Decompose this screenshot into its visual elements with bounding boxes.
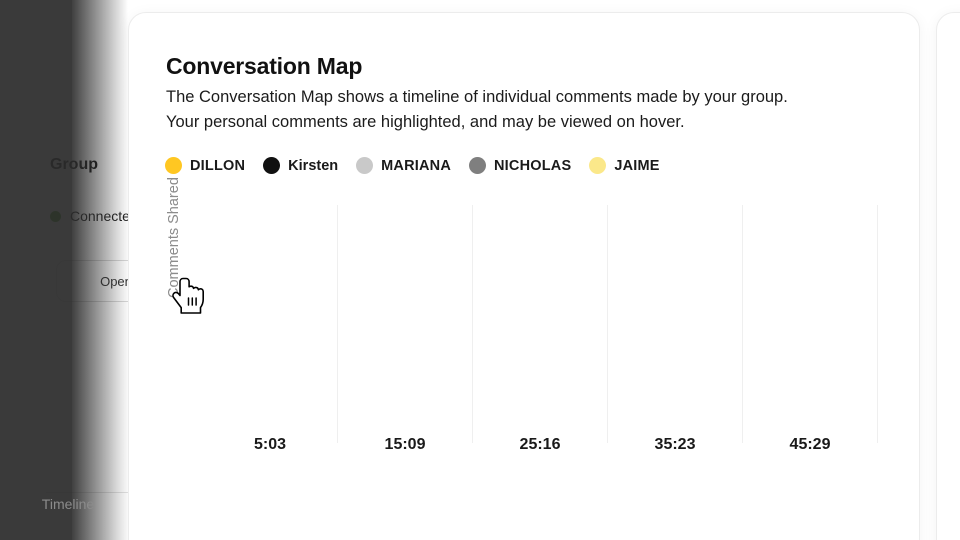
legend-swatch-icon — [356, 157, 373, 174]
x-axis-label: Timeline — [0, 496, 960, 512]
chart-plot-area[interactable] — [165, 193, 895, 443]
description-line-1: The Conversation Map shows a timeline of… — [166, 85, 896, 110]
legend-item-label: MARIANA — [381, 158, 451, 174]
chart-gridline-3 — [742, 205, 743, 443]
legend-item-jaime[interactable]: JAIME — [589, 157, 659, 174]
x-tick-label-2: 25:16 — [520, 436, 561, 454]
card-description: The Conversation Map shows a timeline of… — [166, 85, 896, 135]
legend-item-label: Kirsten — [288, 158, 338, 174]
legend-swatch-icon — [263, 157, 280, 174]
legend-swatch-icon — [589, 157, 606, 174]
legend-swatch-icon — [165, 157, 182, 174]
modal-scrim-fade — [72, 0, 128, 540]
legend-item-label: NICHOLAS — [494, 158, 571, 174]
x-tick-label-3: 35:23 — [655, 436, 696, 454]
description-line-2: Your personal comments are highlighted, … — [166, 110, 896, 135]
legend-swatch-icon — [469, 157, 486, 174]
screen-root: Group Connected Open Conversation Map Th… — [0, 0, 960, 540]
chart-gridline-4 — [877, 205, 878, 443]
legend-item-label: JAIME — [614, 158, 659, 174]
modal-scrim[interactable] — [0, 0, 72, 540]
y-axis-label: Comments Shared — [166, 177, 182, 298]
legend-item-label: DILLON — [190, 158, 245, 174]
legend-item-mariana[interactable]: MARIANA — [356, 157, 451, 174]
x-tick-label-0: 5:03 — [254, 436, 286, 454]
chart-gridline-2 — [607, 205, 608, 443]
x-tick-label-4: 45:29 — [790, 436, 831, 454]
conversation-map-card: Conversation Map The Conversation Map sh… — [128, 12, 920, 540]
page-title: Conversation Map — [166, 53, 362, 80]
next-card-peek[interactable] — [936, 12, 960, 540]
chart-gridline-1 — [472, 205, 473, 443]
chart-legend: DILLONKirstenMARIANANICHOLASJAIME — [165, 157, 678, 174]
chart-data-points — [165, 193, 895, 443]
x-tick-label-1: 15:09 — [385, 436, 426, 454]
chart-gridline-0 — [337, 205, 338, 443]
legend-item-kirsten[interactable]: Kirsten — [263, 157, 338, 174]
legend-item-nicholas[interactable]: NICHOLAS — [469, 157, 571, 174]
legend-item-dillon[interactable]: DILLON — [165, 157, 245, 174]
